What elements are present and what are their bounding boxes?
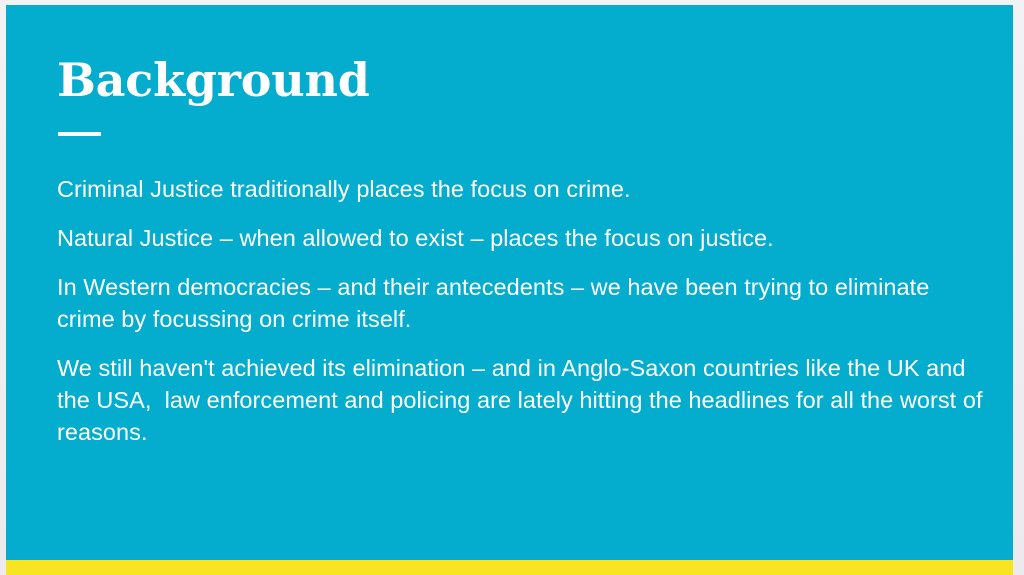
body-text-block: Criminal Justice traditionally places th… bbox=[57, 173, 987, 448]
slide-content-area: Background Criminal Justice traditionall… bbox=[6, 5, 1013, 560]
title-underline-rule bbox=[58, 132, 101, 136]
bottom-accent-bar bbox=[6, 560, 1013, 575]
paragraph-2: Natural Justice – when allowed to exist … bbox=[57, 222, 987, 254]
paragraph-1: Criminal Justice traditionally places th… bbox=[57, 173, 987, 205]
presentation-slide: Background Criminal Justice traditionall… bbox=[0, 0, 1024, 575]
paragraph-4: We still haven't achieved its eliminatio… bbox=[57, 352, 987, 448]
page-title: Background bbox=[57, 53, 370, 107]
paragraph-3: In Western democracies – and their antec… bbox=[57, 271, 987, 335]
